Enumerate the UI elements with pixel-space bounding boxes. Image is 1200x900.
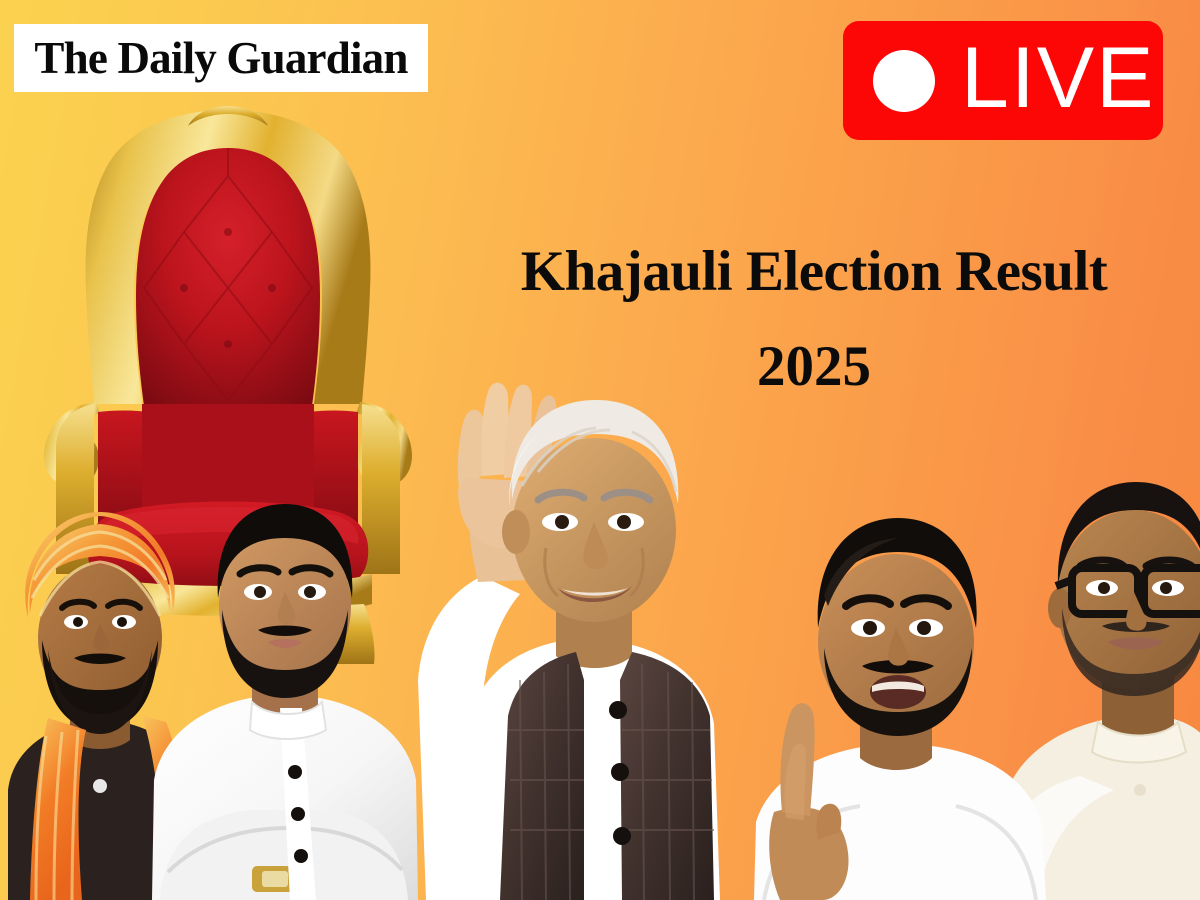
- watch-face: [262, 871, 288, 887]
- publication-logo[interactable]: The Daily Guardian: [14, 24, 428, 92]
- left-pupil: [73, 617, 83, 627]
- left-pupil: [254, 586, 266, 598]
- kurta-button: [1134, 784, 1146, 796]
- news-graphic-canvas: The Daily Guardian LIVE Khajauli Electio…: [0, 0, 1200, 900]
- left-pupil: [555, 515, 569, 529]
- portrait-illustration: [370, 380, 740, 900]
- page-title: Khajauli Election Result 2025: [444, 243, 1184, 395]
- headline-line-2: 2025: [444, 338, 1184, 395]
- left-pupil: [863, 621, 877, 635]
- left-ear: [502, 510, 530, 554]
- live-dot-icon: [873, 50, 935, 112]
- left-pupil: [1098, 582, 1110, 594]
- throne-velvet-backrest: [136, 148, 320, 406]
- right-pupil: [917, 621, 931, 635]
- open-mouth: [870, 675, 926, 709]
- right-pupil: [617, 515, 631, 529]
- right-pupil: [1160, 582, 1172, 594]
- headline-line-1: Khajauli Election Result: [444, 243, 1184, 300]
- live-badge-label: LIVE: [961, 35, 1155, 121]
- right-pupil: [304, 586, 316, 598]
- live-badge[interactable]: LIVE: [843, 21, 1163, 140]
- kurta-button: [93, 779, 107, 793]
- publication-logo-text: The Daily Guardian: [34, 36, 407, 81]
- portrait-illustration: [720, 500, 1070, 900]
- person-opposition-leader-pointing: [720, 500, 1070, 900]
- right-pupil: [117, 617, 127, 627]
- person-senior-leader-waving: [370, 380, 740, 900]
